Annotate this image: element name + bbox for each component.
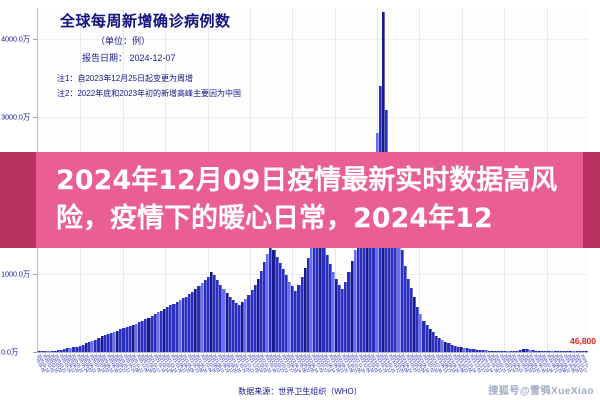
chart-data-source: 数据来源：世界卫生组织（WHO）: [238, 386, 362, 397]
chart-y-tick-mark: [33, 274, 37, 275]
chart-title-block: 全球每周新增确诊病例数 （单位：例） 报告日期： 2024-12-07: [60, 10, 231, 64]
chart-last-value-annotation: 46,800: [570, 336, 596, 346]
chart-y-tick-mark: [33, 39, 37, 40]
chart-report-date: 报告日期： 2024-12-07: [82, 51, 231, 64]
chart-x-axis-labels: 2020-01-052020-01-192020-02-022020-02-16…: [37, 353, 588, 381]
chart-y-tick-label: 4000.0万: [1, 34, 30, 45]
headline-text: 2024年12月09日疫情最新实时数据高风险，疫情下的暖心日常，2024年12: [40, 162, 560, 239]
chart-y-tick-mark: [33, 117, 37, 118]
chart-y-tick-label: 3000.0万: [1, 112, 30, 123]
chart-watermark: 搜狐号@雪鸮XueXiao: [488, 382, 594, 397]
screenshot-root: 0.0万1000.0万2000.0万3000.0万4000.0万 全球每周新增确…: [0, 0, 600, 400]
chart-unit-label: （单位：例）: [96, 34, 231, 47]
chart-note-2: 注2：2022年底和2023年初的新增高峰主要因为中国: [57, 86, 241, 101]
headline-overlay-banner: 2024年12月09日疫情最新实时数据高风险，疫情下的暖心日常，2024年12: [0, 152, 600, 248]
chart-title: 全球每周新增确诊病例数: [60, 10, 231, 31]
chart-notes: 注1：自2023年12月25日起变更为周增 注2：2022年底和2023年初的新…: [57, 71, 241, 101]
chart-y-tick-label: 1000.0万: [1, 268, 30, 279]
chart-y-tick-label: 0.0万: [1, 347, 18, 358]
chart-note-1: 注1：自2023年12月25日起变更为周增: [57, 71, 241, 86]
